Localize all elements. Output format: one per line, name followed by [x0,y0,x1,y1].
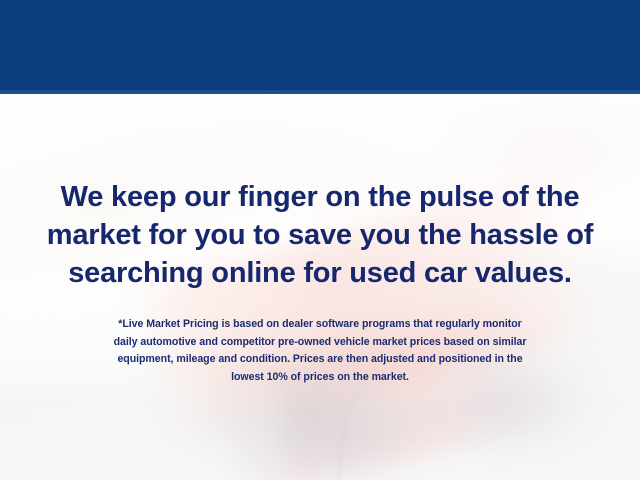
footnote-line-1: *Live Market Pricing is based on dealer … [22,316,618,334]
headline-line-3: searching online for used car values. [0,254,640,292]
live-market-pricing-slide: Live Market Pricing* We keep our finger … [0,0,640,480]
header-banner [0,0,640,90]
footnote-line-2: daily automotive and competitor pre-owne… [22,334,618,352]
footnote-disclaimer: *Live Market Pricing is based on dealer … [22,316,618,386]
header-banner-edge [0,90,640,94]
headline-line-1: We keep our finger on the pulse of the [0,178,640,216]
headline: We keep our finger on the pulse of the m… [0,178,640,292]
footnote-line-3: equipment, mileage and condition. Prices… [22,351,618,369]
footnote-line-4: lowest 10% of prices on the market. [22,369,618,387]
headline-line-2: market for you to save you the hassle of [0,216,640,254]
